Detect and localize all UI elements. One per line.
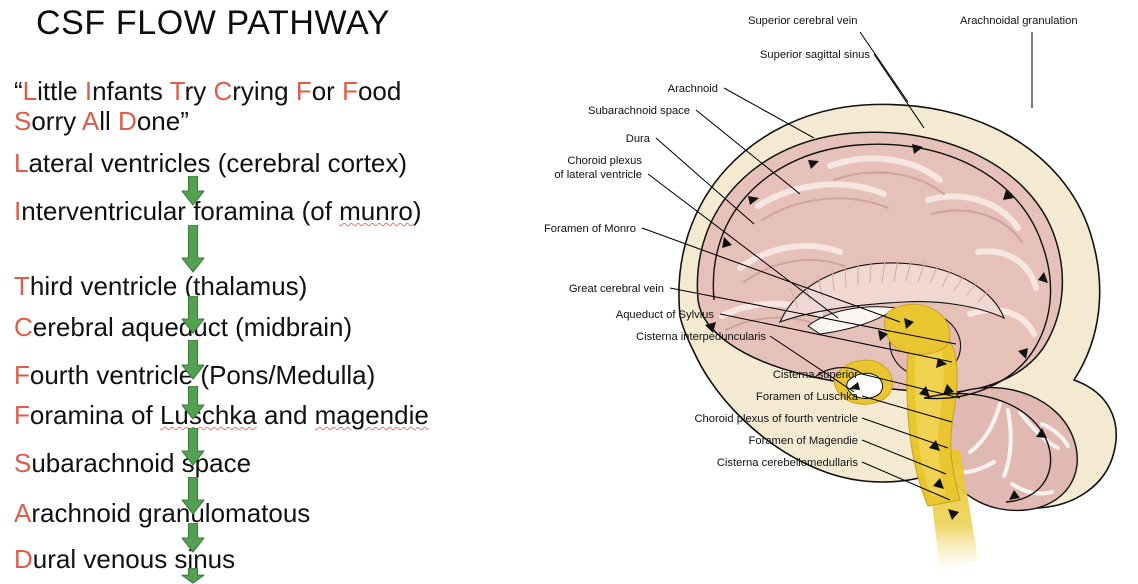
label-aqueduct-of-sylvius: Aqueduct of Sylvius [616,309,715,321]
label-dura: Dura [626,133,651,145]
step-capital: L [14,148,28,178]
flow-arrow-down-icon [180,477,206,515]
mnemonic-capital: I [85,76,92,106]
text-column: CSF FLOW PATHWAY “Little Infants Try Cry… [0,0,540,584]
label-foramen-of-monro: Foramen of Monro [544,223,636,235]
misspelled-word: magendie [315,400,429,430]
page-title: CSF FLOW PATHWAY [36,4,390,43]
label-cisterna-interpeduncularis: Cisterna interpeduncularis [636,331,766,343]
label-arachnoid: Arachnoid [668,83,718,95]
label-foramen-of-magendie: Foramen of Magendie [749,435,858,447]
step-capital: D [14,544,33,574]
mnemonic-line: “Little Infants Try Crying For Food [14,76,401,106]
flow-arrow-down-icon [180,428,206,466]
step-capital: F [14,360,30,390]
flow-arrow-down-icon [180,386,206,420]
brain-csf-diagram: Superior cerebral vein Arachnoidal granu… [508,0,1138,584]
step-capital: S [14,448,31,478]
csf-pathway-step: Interventricular foramina (of munro) [14,196,514,226]
label-choroid-plexus-lateral-ventricle-line1: Choroid plexus [567,155,642,167]
label-choroid-plexus-lateral-ventricle-line2: of lateral ventricle [554,169,642,181]
misspelled-word: Luschka [160,400,257,430]
mnemonic-capital: D [118,106,137,136]
csf-flow-pathway-slide: CSF FLOW PATHWAY “Little Infants Try Cry… [0,0,1138,584]
step-capital: F [14,400,30,430]
flow-arrow-down-icon [180,568,206,584]
step-capital: T [14,271,30,301]
mnemonic-capital: F [296,76,312,106]
csf-pathway-step: Arachnoid granulomatous [14,498,310,528]
label-great-cerebral-vein: Great cerebral vein [569,283,664,295]
label-superior-cerebral-vein: Superior cerebral vein [748,15,857,27]
label-cisterna-cerebellomedullaris: Cisterna cerebellomedullaris [717,457,859,469]
csf-pathway-step: Foramina of Luschka and magendie [14,400,514,430]
mnemonic-capital: C [213,76,232,106]
flow-arrow-down-icon [180,296,206,334]
mnemonic-capital: F [342,76,358,106]
csf-pathway-step: Lateral ventricles (cerebral cortex) [14,148,514,178]
mnemonic-line: Sorry All Done” [14,106,189,136]
mnemonic-capital: T [170,76,185,106]
flow-arrow-down-icon [180,176,206,206]
step-capital: A [14,498,31,528]
mnemonic-capital: A [82,106,99,136]
csf-pathway-step: Subarachnoid space [14,448,251,478]
flow-arrow-down-icon [180,340,206,380]
mnemonic-capital: S [14,106,31,136]
mnemonic-capital: L [23,76,37,106]
step-capital: I [14,196,21,226]
label-cisterna-superior: Cisterna superior [773,369,858,381]
flow-arrow-down-icon [180,523,206,553]
misspelled-word: munro [339,196,413,226]
flow-arrow-down-icon [180,225,206,273]
step-capital: C [14,312,33,342]
label-superior-sagittal-sinus: Superior sagittal sinus [760,49,870,61]
csf-pathway-step: Third ventricle (thalamus) [14,271,307,301]
label-arachnoidal-granulation: Arachnoidal granulation [960,15,1078,27]
label-subarachnoid-space: Subarachnoid space [588,105,690,117]
label-choroid-plexus-fourth-ventricle: Choroid plexus of fourth ventricle [694,413,858,425]
label-foramen-of-luschka: Foramen of Luschka [756,391,859,403]
